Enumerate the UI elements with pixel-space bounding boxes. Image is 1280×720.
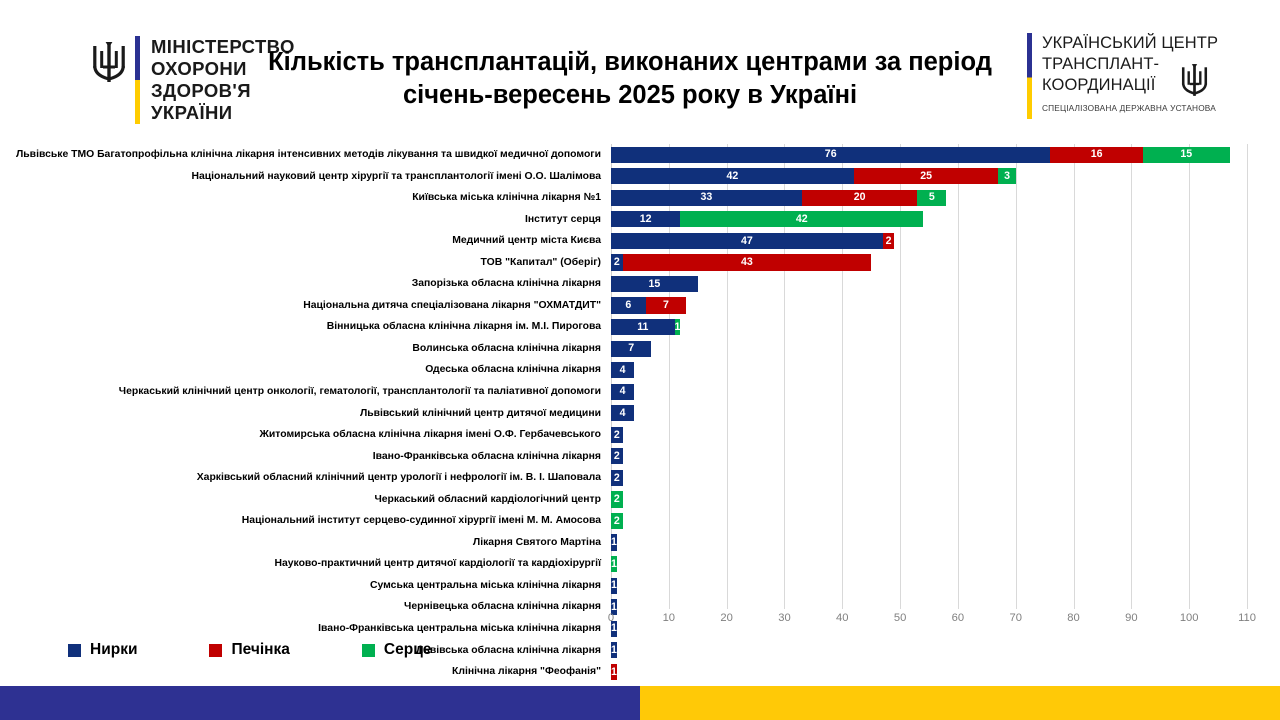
bar-segment-нирки[interactable]: 4 (611, 362, 634, 378)
bar-value-label: 2 (886, 236, 892, 247)
legend-swatch-icon (68, 644, 81, 657)
bar-value-label: 42 (796, 214, 808, 225)
bar-value-label: 1 (611, 580, 617, 591)
bar-segment-нирки[interactable]: 12 (611, 211, 680, 227)
category-label: Національна дитяча спеціалізована лікарн… (0, 295, 601, 317)
bar-value-label: 3 (1004, 171, 1010, 182)
bar-value-label: 2 (614, 430, 620, 441)
chart-row: Одеська обласна клінічна лікарня4 (0, 359, 1280, 381)
stacked-bar[interactable]: 7 (611, 341, 651, 357)
chart-row: Інститут серця1242 (0, 209, 1280, 231)
bar-segment-нирки[interactable]: 1 (611, 578, 617, 594)
chart-row: Запорізька обласна клінічна лікарня15 (0, 273, 1280, 295)
chart-row: Вінницька обласна клінічна лікарня ім. М… (0, 316, 1280, 338)
x-axis-tick-0: 0 (608, 612, 614, 624)
category-label: Івано-Франківська центральна міська клін… (0, 618, 601, 640)
x-axis-tick-30: 30 (778, 612, 790, 624)
category-label: Київська міська клінічна лікарня №1 (0, 187, 601, 209)
bar-value-label: 2 (614, 494, 620, 505)
bar-value-label: 42 (727, 171, 739, 182)
category-label: Івано-Франківська обласна клінічна лікар… (0, 446, 601, 468)
bar-segment-нирки[interactable]: 4 (611, 405, 634, 421)
bar-value-label: 12 (640, 214, 652, 225)
category-label: ТОВ "Капитал" (Оберіг) (0, 252, 601, 274)
bar-value-label: 4 (620, 365, 626, 376)
bar-segment-серце[interactable]: 1 (611, 556, 617, 572)
chart-row: Львівський клінічний центр дитячої медиц… (0, 403, 1280, 425)
bar-segment-нирки[interactable]: 11 (611, 319, 675, 335)
stacked-bar[interactable]: 4 (611, 362, 634, 378)
stacked-bar[interactable]: 243 (611, 254, 871, 270)
bar-value-label: 25 (920, 171, 932, 182)
legend-item-печінка[interactable]: Печінка (209, 641, 289, 659)
stacked-bar[interactable]: 4 (611, 384, 634, 400)
category-label: Львівський клінічний центр дитячої медиц… (0, 403, 601, 425)
stacked-bar[interactable]: 15 (611, 276, 698, 292)
brand-divider-bar (135, 36, 140, 124)
x-axis-tick-70: 70 (1009, 612, 1021, 624)
bar-segment-нирки[interactable]: 2 (611, 254, 623, 270)
chart-row: Лікарня Святого Мартіна1 (0, 532, 1280, 554)
bar-segment-нирки[interactable]: 1 (611, 534, 617, 550)
chart-legend: НиркиПечінкаСерце (68, 641, 503, 659)
stacked-bar[interactable]: 2 (611, 427, 623, 443)
bar-segment-печінка[interactable]: 2 (883, 233, 895, 249)
category-label: Черкаський обласний кардіологічний центр (0, 489, 601, 511)
chart-bars-container: Львівське ТМО Багатопрофільна клінічна л… (0, 144, 1280, 683)
x-axis-tick-40: 40 (836, 612, 848, 624)
category-label: Національний інститут серцево-судинної х… (0, 510, 601, 532)
x-axis-tick-60: 60 (952, 612, 964, 624)
x-axis-tick-110: 110 (1238, 612, 1256, 624)
chart-row: Національний науковий центр хірургії та … (0, 166, 1280, 188)
page-footer (0, 686, 1280, 720)
chart-row: Харківський обласний клінічний центр уро… (0, 467, 1280, 489)
category-label: Волинська обласна клінічна лікарня (0, 338, 601, 360)
bar-segment-серце[interactable]: 3 (998, 168, 1015, 184)
transplant-coordination-center-logo: УКРАЇНСЬКИЙ ЦЕНТР ТРАНСПЛАНТ- КООРДИНАЦІ… (1027, 33, 1218, 119)
category-label: Сумська центральна міська клінічна лікар… (0, 575, 601, 597)
category-label: Інститут серця (0, 209, 601, 231)
category-label: Житомирська обласна клінічна лікарня іме… (0, 424, 601, 446)
stacked-bar[interactable]: 2 (611, 491, 623, 507)
bar-segment-нирки[interactable]: 76 (611, 147, 1050, 163)
bar-value-label: 1 (611, 537, 617, 548)
category-label: Одеська обласна клінічна лікарня (0, 359, 601, 381)
bar-value-label: 16 (1091, 149, 1103, 160)
bar-value-label: 5 (929, 192, 935, 203)
footer-blue-band (0, 686, 640, 720)
bar-segment-печінка[interactable]: 16 (1050, 147, 1143, 163)
category-label: Чернівецька обласна клінічна лікарня (0, 596, 601, 618)
page-header: МІНІСТЕРСТВО ОХОРОНИ ЗДОРОВ'Я УКРАЇНИ Кі… (0, 0, 1280, 140)
bar-segment-нирки[interactable]: 2 (611, 448, 623, 464)
legend-label: Печінка (231, 641, 289, 659)
stacked-bar[interactable]: 1242 (611, 211, 923, 227)
bar-segment-серце[interactable]: 2 (611, 491, 623, 507)
bar-segment-нирки[interactable]: 47 (611, 233, 883, 249)
bar-value-label: 15 (648, 279, 660, 290)
x-axis-tick-100: 100 (1180, 612, 1199, 624)
chart-row: Львівське ТМО Багатопрофільна клінічна л… (0, 144, 1280, 166)
category-label: Черкаський клінічний центр онкології, ге… (0, 381, 601, 403)
x-axis: 0102030405060708090100110 (611, 612, 1247, 632)
bar-segment-нирки[interactable]: 2 (611, 470, 623, 486)
category-label: Львівське ТМО Багатопрофільна клінічна л… (0, 144, 601, 166)
x-axis-tick-50: 50 (894, 612, 906, 624)
bar-segment-печінка[interactable]: 20 (802, 190, 918, 206)
bar-value-label: 76 (825, 149, 837, 160)
uctc-subtitle: СПЕЦІАЛІЗОВАНА ДЕРЖАВНА УСТАНОВА (1042, 103, 1218, 113)
bar-segment-печінка[interactable]: 43 (623, 254, 872, 270)
stacked-bar[interactable]: 4 (611, 405, 634, 421)
legend-item-серце[interactable]: Серце (362, 641, 431, 659)
bar-value-label: 43 (741, 257, 753, 268)
stacked-bar[interactable]: 2 (611, 513, 623, 529)
chart-row: Івано-Франківська обласна клінічна лікар… (0, 446, 1280, 468)
bar-segment-печінка[interactable]: 1 (611, 664, 617, 680)
bar-value-label: 15 (1180, 149, 1192, 160)
chart-row: Національна дитяча спеціалізована лікарн… (0, 295, 1280, 317)
bar-value-label: 7 (628, 343, 634, 354)
legend-swatch-icon (362, 644, 375, 657)
category-label: Клінічна лікарня "Феофанія" (0, 661, 601, 683)
stacked-bar[interactable]: 1 (611, 642, 617, 658)
chart-row: Київська міська клінічна лікарня №133205 (0, 187, 1280, 209)
stacked-bar[interactable]: 67 (611, 297, 686, 313)
bar-value-label: 2 (614, 516, 620, 527)
bar-value-label: 47 (741, 236, 753, 247)
legend-item-нирки[interactable]: Нирки (68, 641, 137, 659)
bar-value-label: 4 (620, 408, 626, 419)
bar-value-label: 1 (611, 667, 617, 678)
bar-segment-нирки[interactable]: 6 (611, 297, 646, 313)
bar-segment-серце[interactable]: 42 (680, 211, 923, 227)
stacked-bar[interactable]: 472 (611, 233, 894, 249)
ukrainian-trident-icon (1181, 62, 1208, 98)
bar-segment-печінка[interactable]: 7 (646, 297, 686, 313)
brand-divider-bar (1027, 33, 1032, 119)
bar-value-label: 6 (625, 300, 631, 311)
bar-segment-серце[interactable]: 5 (917, 190, 946, 206)
chart-row: Волинська обласна клінічна лікарня7 (0, 338, 1280, 360)
bar-value-label: 2 (614, 257, 620, 268)
stacked-bar[interactable]: 2 (611, 448, 623, 464)
stacked-bar[interactable]: 1 (611, 534, 617, 550)
stacked-bar[interactable]: 1 (611, 664, 617, 680)
bar-value-label: 2 (614, 473, 620, 484)
bar-segment-нирки[interactable]: 1 (611, 642, 617, 658)
stacked-bar[interactable]: 42253 (611, 168, 1016, 184)
legend-swatch-icon (209, 644, 222, 657)
bar-segment-нирки[interactable]: 15 (611, 276, 698, 292)
bar-value-label: 7 (663, 300, 669, 311)
bar-value-label: 1 (675, 322, 681, 333)
category-label: Науково-практичний центр дитячої кардіол… (0, 553, 601, 575)
chart-row: Науково-практичний центр дитячої кардіол… (0, 553, 1280, 575)
bar-value-label: 1 (611, 602, 617, 613)
bar-value-label: 4 (620, 386, 626, 397)
category-label: Харківський обласний клінічний центр уро… (0, 467, 601, 489)
uctc-line-1: УКРАЇНСЬКИЙ ЦЕНТР (1042, 33, 1218, 54)
bar-segment-нирки[interactable]: 7 (611, 341, 651, 357)
category-label: Вінницька обласна клінічна лікарня ім. М… (0, 316, 601, 338)
category-label: Медичний центр міста Києва (0, 230, 601, 252)
legend-label: Нирки (90, 641, 137, 659)
transplant-chart: Львівське ТМО Багатопрофільна клінічна л… (0, 144, 1280, 634)
bar-segment-нирки[interactable]: 42 (611, 168, 854, 184)
bar-value-label: 33 (701, 192, 713, 203)
stacked-bar[interactable]: 111 (611, 319, 680, 335)
page-title: Кількість трансплантацій, виконаних цент… (250, 46, 1010, 112)
legend-label: Серце (384, 641, 431, 659)
x-axis-tick-80: 80 (1067, 612, 1079, 624)
x-axis-tick-90: 90 (1125, 612, 1137, 624)
bar-segment-серце[interactable]: 2 (611, 513, 623, 529)
bar-value-label: 20 (854, 192, 866, 203)
stacked-bar[interactable]: 761615 (611, 147, 1230, 163)
bar-segment-нирки[interactable]: 2 (611, 427, 623, 443)
chart-row: Житомирська обласна клінічна лікарня іме… (0, 424, 1280, 446)
stacked-bar[interactable]: 1 (611, 556, 617, 572)
bar-value-label: 1 (611, 645, 617, 656)
bar-value-label: 1 (611, 559, 617, 570)
ukrainian-trident-icon (92, 40, 126, 84)
category-label: Лікарня Святого Мартіна (0, 532, 601, 554)
bar-value-label: 2 (614, 451, 620, 462)
chart-row: Черкаський обласний кардіологічний центр… (0, 489, 1280, 511)
stacked-bar[interactable]: 33205 (611, 190, 946, 206)
x-axis-tick-10: 10 (663, 612, 675, 624)
x-axis-tick-20: 20 (720, 612, 732, 624)
bar-segment-нирки[interactable]: 4 (611, 384, 634, 400)
chart-row: Національний інститут серцево-судинної х… (0, 510, 1280, 532)
category-label: Національний науковий центр хірургії та … (0, 166, 601, 188)
chart-row: Клінічна лікарня "Феофанія"1 (0, 661, 1280, 683)
chart-row: Черкаський клінічний центр онкології, ге… (0, 381, 1280, 403)
chart-row: Сумська центральна міська клінічна лікар… (0, 575, 1280, 597)
bar-segment-серце[interactable]: 15 (1143, 147, 1230, 163)
chart-row: Медичний центр міста Києва472 (0, 230, 1280, 252)
category-label: Запорізька обласна клінічна лікарня (0, 273, 601, 295)
stacked-bar[interactable]: 1 (611, 578, 617, 594)
stacked-bar[interactable]: 2 (611, 470, 623, 486)
bar-segment-нирки[interactable]: 33 (611, 190, 802, 206)
bar-segment-печінка[interactable]: 25 (854, 168, 999, 184)
footer-yellow-band (640, 686, 1280, 720)
bar-value-label: 11 (637, 322, 648, 333)
bar-segment-серце[interactable]: 1 (675, 319, 681, 335)
chart-row: ТОВ "Капитал" (Оберіг)243 (0, 252, 1280, 274)
